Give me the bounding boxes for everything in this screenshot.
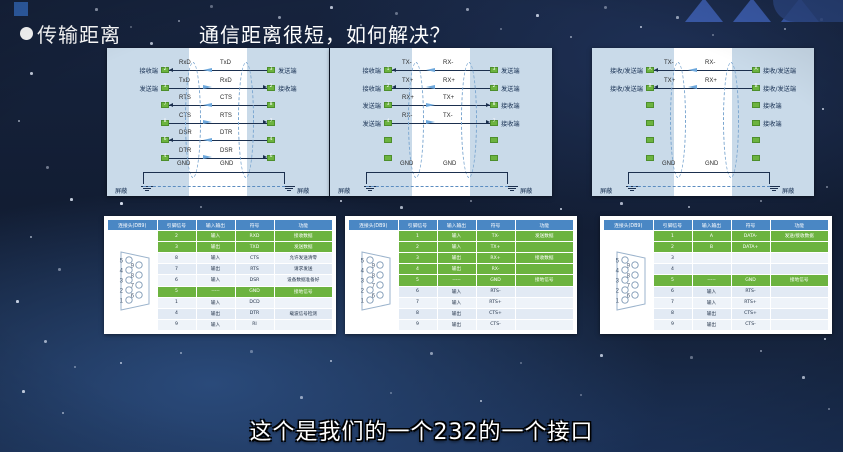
- cell-sym: CTS+: [731, 308, 770, 319]
- cell-sym: DATA-: [731, 231, 770, 242]
- star: [620, 202, 623, 205]
- cell-sym: TX+: [476, 242, 515, 253]
- cell-sym: DATA+: [731, 242, 770, 253]
- star: [200, 206, 202, 208]
- flow-arrow: [203, 155, 212, 159]
- cell-pin: 4: [398, 264, 437, 275]
- pin-left-A: A: [646, 67, 654, 73]
- star: [470, 200, 472, 202]
- side-label-left: 发送端: [362, 101, 381, 110]
- cell-io: 输出: [437, 308, 476, 319]
- cell-fn: 接地信号: [274, 286, 333, 297]
- cell-fn: [770, 242, 829, 253]
- cell-pin: 3: [398, 253, 437, 264]
- pin-right-blank: [490, 137, 498, 143]
- cell-io: 输出: [196, 264, 235, 275]
- table-row: 5432198761ADATA-发送/接收数据: [604, 231, 829, 242]
- star: [520, 362, 522, 364]
- wire-arrowhead: [169, 138, 173, 142]
- side-label-left: 接收端: [139, 66, 158, 75]
- cell-io: 输入: [437, 286, 476, 297]
- column-header-1: 引脚信号: [398, 220, 437, 231]
- cell-io: [692, 253, 731, 264]
- cell-io: 输出: [437, 264, 476, 275]
- cell-sym: RTS+: [476, 297, 515, 308]
- pin-right-blank: [752, 102, 760, 108]
- headline-question: 通信距离很短，如何解决？: [199, 19, 451, 48]
- pin-left-2: 2: [384, 85, 392, 91]
- column-header-4: 功能: [274, 220, 333, 231]
- star: [120, 202, 123, 205]
- star: [180, 352, 182, 354]
- pin-right-4: 4: [267, 137, 275, 143]
- column-header-0: 连接头(DB9): [108, 220, 158, 231]
- signal-label-right: TX-: [443, 113, 453, 119]
- column-header-3: 符号: [476, 220, 515, 231]
- star: [300, 396, 303, 399]
- table-row: 5432198762输入RXD接收数据: [108, 231, 333, 242]
- cell-fn: [274, 297, 333, 308]
- signal-label-right: RTS: [220, 113, 232, 119]
- table-row: 5432198761输入TX-发送数据: [349, 231, 574, 242]
- twisted-pair-outline: [461, 62, 477, 178]
- gnd-label-right: GND: [705, 161, 718, 167]
- cell-fn: [515, 308, 574, 319]
- pin-left-6: 6: [161, 137, 169, 143]
- pinout-table: 连接头(DB9)引脚信号输入输出符号功能5432198761ADATA-发送/接…: [603, 219, 829, 331]
- cell-sym: TXD: [235, 242, 274, 253]
- cell-io: [692, 264, 731, 275]
- signal-label-right: RX-: [443, 60, 453, 66]
- column-header-3: 符号: [235, 220, 274, 231]
- cell-pin: 3: [653, 253, 692, 264]
- cell-fn: [515, 242, 574, 253]
- pin-left-blank: [384, 137, 392, 143]
- gnd-label-left: GND: [662, 161, 675, 167]
- wire-arrowhead: [654, 85, 658, 89]
- pinout-table-panel-rs422-pinout: 连接头(DB9)引脚信号输入输出符号功能5432198761输入TX-发送数据2…: [345, 216, 577, 334]
- signal-label-left: TX-: [402, 60, 412, 66]
- cell-io: 输入: [196, 231, 235, 242]
- flow-arrow: [203, 120, 212, 124]
- connector-diagram-cell: 543219876: [604, 231, 654, 331]
- cell-pin: 4: [157, 308, 196, 319]
- cell-fn: [515, 297, 574, 308]
- cell-fn: [770, 319, 829, 330]
- cell-sym: RX+: [476, 253, 515, 264]
- cell-pin: 5: [653, 275, 692, 286]
- pin-left-blank: [646, 120, 654, 126]
- pin-right-blank: [752, 120, 760, 126]
- cell-pin: 1: [157, 297, 196, 308]
- cell-io: 输入: [437, 242, 476, 253]
- wire-arrowhead: [263, 155, 267, 159]
- shield-dashed-line: [366, 186, 508, 187]
- side-label-left: 接收端: [362, 66, 381, 75]
- side-label-right: 接收端: [501, 119, 520, 128]
- signal-wire: [392, 70, 490, 71]
- cell-fn: 接收数据: [274, 231, 333, 242]
- pin-right-3: 3: [490, 67, 498, 73]
- star: [74, 366, 76, 368]
- star: [760, 200, 762, 202]
- side-label-right: 发送端: [501, 66, 520, 75]
- shield-label-left: 屏蔽: [338, 186, 350, 195]
- twisted-pair-outline: [723, 62, 739, 178]
- cell-fn: 请求发送: [274, 264, 333, 275]
- cell-fn: [770, 308, 829, 319]
- cell-fn: 允许发送清零: [274, 253, 333, 264]
- wire-arrowhead: [392, 85, 396, 89]
- column-header-2: 输入输出: [437, 220, 476, 231]
- cell-io: -----: [437, 275, 476, 286]
- star: [210, 5, 213, 8]
- cell-pin: 3: [157, 242, 196, 253]
- cell-sym: CTS-: [731, 319, 770, 330]
- cell-io: 输入: [196, 275, 235, 286]
- signal-label-right: RX+: [443, 78, 455, 84]
- star: [120, 362, 122, 364]
- star: [430, 352, 433, 355]
- pin-left-blank: [646, 102, 654, 108]
- cell-sym: CTS-: [476, 319, 515, 330]
- cell-sym: DSR: [235, 275, 274, 286]
- cell-sym: RTS-: [476, 286, 515, 297]
- video-subtitle: 这个是我们的一个232的一个接口: [0, 414, 843, 446]
- pin-left-4: 4: [384, 120, 392, 126]
- cell-fn: 接收数据: [515, 253, 574, 264]
- pin-right-B: B: [752, 85, 760, 91]
- side-label-left: 发送端: [362, 119, 381, 128]
- gnd-label-left: GND: [400, 161, 413, 167]
- pin-left-blank: [646, 155, 654, 161]
- star: [466, 8, 469, 11]
- column-header-0: 连接头(DB9): [604, 220, 654, 231]
- column-header-2: 输入输出: [196, 220, 235, 231]
- ground-bus: [366, 172, 508, 184]
- shield-label-right: 屏蔽: [782, 186, 794, 195]
- wire-arrowhead: [263, 120, 267, 124]
- cell-sym: DTR: [235, 308, 274, 319]
- star: [95, 8, 98, 11]
- pin-right-7: 7: [490, 120, 498, 126]
- column-header-1: 引脚信号: [157, 220, 196, 231]
- star: [250, 350, 253, 353]
- side-label-left: 接收/发送端: [610, 84, 643, 93]
- star: [580, 394, 582, 396]
- pin-left-blank: [384, 155, 392, 161]
- cell-fn: [770, 286, 829, 297]
- side-label-right: 接收/发送端: [763, 66, 796, 75]
- pin-left-7: 7: [161, 102, 169, 108]
- cell-fn: [770, 297, 829, 308]
- cell-io: -----: [196, 286, 235, 297]
- diagram-panel-rs422-full-duplex: 13接收端发送端TX-RX-22接收端发送端TX+RX+38发送端接收端RX+T…: [330, 48, 552, 196]
- cell-io: 输出: [437, 319, 476, 330]
- side-label-right: 发送端: [278, 66, 297, 75]
- pin-left-8: 8: [161, 120, 169, 126]
- cell-sym: GND: [235, 286, 274, 297]
- cell-pin: 5: [157, 286, 196, 297]
- cell-io: 输出: [692, 308, 731, 319]
- cell-sym: RX-: [476, 264, 515, 275]
- cell-io: 输入: [196, 253, 235, 264]
- wire-arrowhead: [169, 103, 173, 107]
- cell-io: A: [692, 231, 731, 242]
- cell-pin: 6: [653, 286, 692, 297]
- gnd-label-right: GND: [443, 161, 456, 167]
- cell-io: 输入: [437, 231, 476, 242]
- side-label-right: 发送端: [501, 84, 520, 93]
- cell-fn: [274, 319, 333, 330]
- flow-arrow: [426, 120, 435, 124]
- cell-sym: GND: [476, 275, 515, 286]
- signal-label-right: DTR: [220, 130, 232, 136]
- star: [44, 340, 47, 343]
- cell-pin: 9: [157, 319, 196, 330]
- cell-fn: [770, 253, 829, 264]
- cell-io: 输入: [692, 286, 731, 297]
- cell-sym: RI: [235, 319, 274, 330]
- pinout-table: 连接头(DB9)引脚信号输入输出符号功能5432198762输入RXD接收数据3…: [107, 219, 333, 331]
- pin-right-A: A: [752, 67, 760, 73]
- cell-pin: 6: [157, 275, 196, 286]
- shield-label-right: 屏蔽: [297, 186, 309, 195]
- cell-fn: 发送数据: [515, 231, 574, 242]
- wire-arrowhead: [263, 85, 267, 89]
- ground-bus: [628, 172, 770, 184]
- cell-fn: [515, 264, 574, 275]
- cell-pin: 1: [398, 231, 437, 242]
- pin-right-3: 3: [267, 67, 275, 73]
- pin-left-1: 1: [384, 67, 392, 73]
- signal-wire: [169, 70, 267, 71]
- flow-arrow: [203, 85, 212, 89]
- star: [400, 206, 403, 209]
- pin-right-blank: [752, 155, 760, 161]
- column-header-1: 引脚信号: [653, 220, 692, 231]
- signal-label-right: RxD: [220, 78, 232, 84]
- cell-pin: 2: [653, 242, 692, 253]
- cell-fn: [515, 319, 574, 330]
- side-label-left: 接收/发送端: [610, 66, 643, 75]
- cell-fn: 发送/接收数据: [770, 231, 829, 242]
- diagram-panel-rs485-half-duplex: AA接收/发送端接收/发送端TX-RX-BB接收/发送端接收/发送端TX+RX+…: [592, 48, 814, 196]
- column-header-2: 输入输出: [692, 220, 731, 231]
- flow-arrow: [426, 85, 435, 89]
- flow-arrow: [203, 138, 212, 142]
- pinout-table-panel-rs232-pinout: 连接头(DB9)引脚信号输入输出符号功能5432198762输入RXD接收数据3…: [104, 216, 336, 334]
- cell-pin: 7: [398, 297, 437, 308]
- star: [690, 356, 693, 359]
- cell-sym: CTS+: [476, 308, 515, 319]
- star: [600, 354, 603, 357]
- star: [802, 376, 805, 379]
- cell-pin: 9: [398, 319, 437, 330]
- cell-pin: 5: [398, 275, 437, 286]
- signal-wire: [169, 158, 267, 159]
- side-label-right: 接收端: [278, 84, 297, 93]
- table-row: 连接头(DB9)引脚信号输入输出符号功能5432198762输入RXD接收数据3…: [0, 216, 843, 334]
- cell-io: 输入: [196, 297, 235, 308]
- corner-accent-square: [14, 2, 28, 16]
- pin-right-8: 8: [267, 102, 275, 108]
- star: [688, 206, 690, 208]
- wire-arrowhead: [486, 103, 490, 107]
- pin-right-6: 6: [267, 155, 275, 161]
- star: [330, 360, 332, 362]
- shield-label-left: 屏蔽: [115, 186, 127, 195]
- bullet-icon: [20, 27, 33, 40]
- flow-arrow: [203, 103, 212, 107]
- pin-left-4: 4: [161, 155, 169, 161]
- cell-sym: RXD: [235, 231, 274, 242]
- pin-left-blank: [646, 137, 654, 143]
- db9-connector-icon: 543219876: [607, 248, 649, 314]
- signal-label-left: TX-: [664, 60, 674, 66]
- star: [70, 198, 73, 201]
- cell-pin: 9: [653, 319, 692, 330]
- cell-sym: [731, 253, 770, 264]
- cell-sym: RTS: [235, 264, 274, 275]
- side-label-right: 接收端: [501, 101, 520, 110]
- signal-label-left: RxD: [179, 60, 191, 66]
- cell-io: 输出: [437, 253, 476, 264]
- star: [604, 6, 607, 9]
- cell-sym: CTS: [235, 253, 274, 264]
- column-header-0: 连接头(DB9): [349, 220, 399, 231]
- signal-label-right: TxD: [220, 60, 231, 66]
- side-label-right: 接收端: [763, 119, 782, 128]
- cell-io: 输出: [196, 308, 235, 319]
- shield-label-left: 屏蔽: [600, 186, 612, 195]
- wire-arrowhead: [169, 68, 173, 72]
- connector-diagram-cell: 543219876: [349, 231, 399, 331]
- cell-io: 输入: [196, 319, 235, 330]
- cell-pin: 7: [653, 297, 692, 308]
- pinout-table: 连接头(DB9)引脚信号输入输出符号功能5432198761输入TX-发送数据2…: [348, 219, 574, 331]
- star: [395, 12, 398, 15]
- cell-fn: 接地信号: [515, 275, 574, 286]
- db9-connector-icon: 543219876: [352, 248, 394, 314]
- diagram-panel-rs232-null-modem: 23接收端发送端RxDTxD32发送端接收端TxDRxD78RTSCTS87CT…: [107, 48, 329, 196]
- column-header-4: 功能: [515, 220, 574, 231]
- slide-headline: 传输距离 通信距离很短，如何解决？: [20, 18, 823, 48]
- cell-io: 输入: [437, 297, 476, 308]
- cell-pin: 1: [653, 231, 692, 242]
- cell-pin: 4: [653, 264, 692, 275]
- cell-sym: GND: [731, 275, 770, 286]
- cell-sym: TX-: [476, 231, 515, 242]
- star: [824, 338, 826, 340]
- side-label-left: 发送端: [139, 84, 158, 93]
- gnd-label-right: GND: [220, 161, 233, 167]
- pin-right-2: 2: [267, 85, 275, 91]
- pin-right-2: 2: [490, 85, 498, 91]
- pin-left-3: 3: [161, 85, 169, 91]
- cell-pin: 8: [398, 308, 437, 319]
- star: [480, 400, 482, 402]
- cell-io: 输出: [692, 319, 731, 330]
- flow-arrow: [426, 68, 435, 72]
- signal-label-right: TX+: [443, 95, 454, 101]
- column-header-4: 功能: [770, 220, 829, 231]
- pin-right-7: 7: [267, 120, 275, 126]
- column-header-3: 符号: [731, 220, 770, 231]
- side-label-left: 接收端: [362, 84, 381, 93]
- cell-pin: 6: [398, 286, 437, 297]
- star: [390, 392, 392, 394]
- shield-dashed-line: [143, 186, 285, 187]
- cell-pin: 2: [398, 242, 437, 253]
- shield-label-right: 屏蔽: [520, 186, 532, 195]
- cell-fn: 接地信号: [770, 275, 829, 286]
- cell-pin: 2: [157, 231, 196, 242]
- pin-left-B: B: [646, 85, 654, 91]
- cell-fn: 设备数据准备好: [274, 275, 333, 286]
- side-label-right: 接收/发送端: [763, 84, 796, 93]
- cell-io: B: [692, 242, 731, 253]
- diagram-row: 23接收端发送端RxDTxD32发送端接收端TxDRxD78RTSCTS87CT…: [0, 48, 843, 196]
- db9-connector-icon: 543219876: [111, 248, 153, 314]
- star: [760, 350, 762, 352]
- cell-sym: RTS-: [731, 286, 770, 297]
- cell-io: 输出: [196, 242, 235, 253]
- star: [330, 6, 333, 9]
- wire-arrowhead: [486, 120, 490, 124]
- star: [340, 200, 342, 202]
- wire-arrowhead: [654, 68, 658, 72]
- pin-right-blank: [752, 137, 760, 143]
- twisted-pair-outline: [238, 62, 254, 178]
- star: [560, 208, 562, 210]
- ground-bus: [143, 172, 285, 184]
- shield-dashed-line: [628, 186, 770, 187]
- star: [828, 408, 830, 410]
- cell-pin: 8: [653, 308, 692, 319]
- pin-right-blank: [490, 155, 498, 161]
- signal-wire: [654, 70, 752, 71]
- pin-left-3: 3: [384, 102, 392, 108]
- flow-arrow: [426, 103, 435, 107]
- connector-diagram-cell: 543219876: [108, 231, 158, 331]
- cell-fn: 发送数据: [274, 242, 333, 253]
- flow-arrow: [688, 85, 697, 89]
- wire-arrowhead: [392, 68, 396, 72]
- cell-fn: 载波信号检测: [274, 308, 333, 319]
- cell-sym: RTS+: [731, 297, 770, 308]
- cell-fn: [515, 286, 574, 297]
- signal-label-right: RX+: [705, 78, 717, 84]
- flow-arrow: [688, 68, 697, 72]
- star: [22, 390, 25, 393]
- star: [536, 14, 539, 17]
- signal-label-right: CTS: [220, 95, 232, 101]
- cell-sym: DCD: [235, 297, 274, 308]
- flow-arrow: [203, 68, 212, 72]
- cell-pin: 7: [157, 264, 196, 275]
- cell-pin: 8: [157, 253, 196, 264]
- pinout-table-panel-rs485-pinout: 连接头(DB9)引脚信号输入输出符号功能5432198761ADATA-发送/接…: [600, 216, 832, 334]
- pin-right-8: 8: [490, 102, 498, 108]
- side-label-right: 接收端: [763, 101, 782, 110]
- cell-io: -----: [692, 275, 731, 286]
- headline-title: 传输距离: [37, 19, 121, 48]
- signal-label-right: DSR: [220, 148, 233, 154]
- cell-fn: [770, 264, 829, 275]
- cell-io: 输入: [692, 297, 731, 308]
- pin-left-2: 2: [161, 67, 169, 73]
